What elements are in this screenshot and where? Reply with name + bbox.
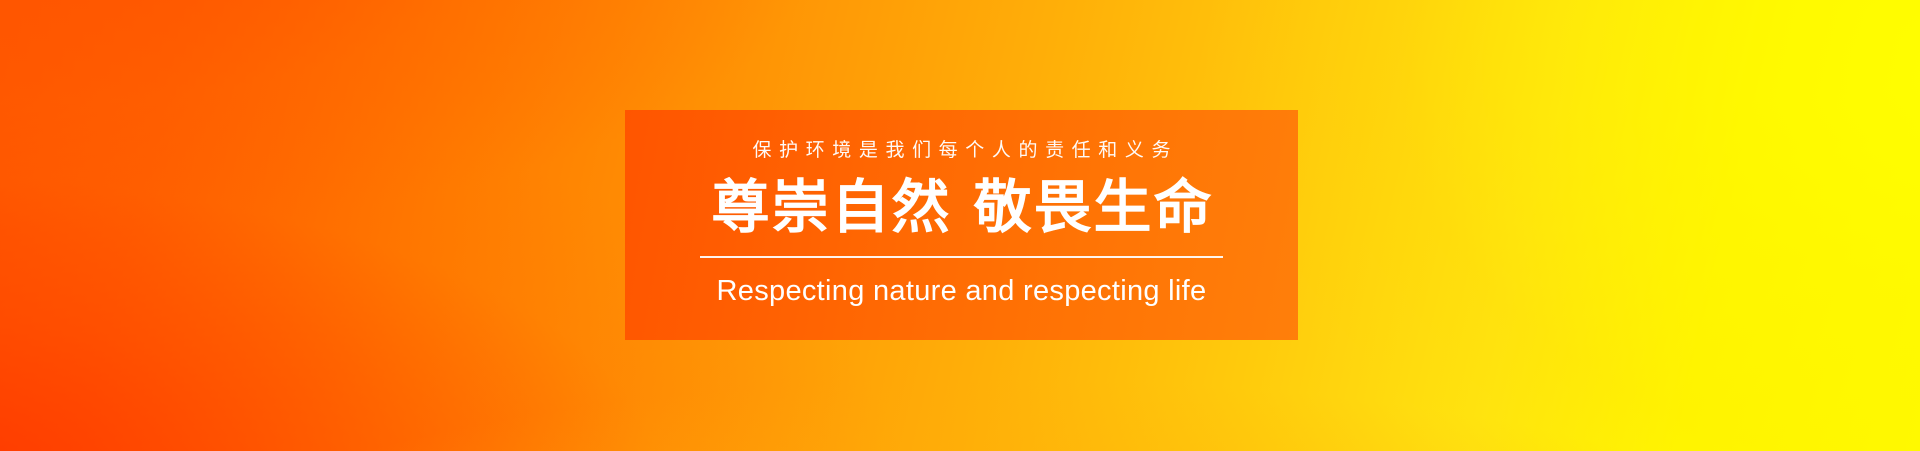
slogan-panel: 保护环境是我们每个人的责任和义务 尊崇自然敬畏生命 Respecting nat… xyxy=(625,110,1298,340)
headline-part-2: 敬畏生命 xyxy=(974,175,1214,240)
eyebrow-text: 保护环境是我们每个人的责任和义务 xyxy=(745,141,1178,160)
headline: 尊崇自然敬畏生命 xyxy=(709,178,1213,239)
slogan-panel-content: 保护环境是我们每个人的责任和义务 尊崇自然敬畏生命 Respecting nat… xyxy=(625,141,1298,308)
environment-slogan-banner: 保护环境是我们每个人的责任和义务 尊崇自然敬畏生命 Respecting nat… xyxy=(0,0,1920,451)
headline-part-1: 尊崇自然 xyxy=(711,175,951,240)
divider-rule xyxy=(700,256,1223,258)
subtitle-english: Respecting nature and respecting life xyxy=(717,275,1207,308)
